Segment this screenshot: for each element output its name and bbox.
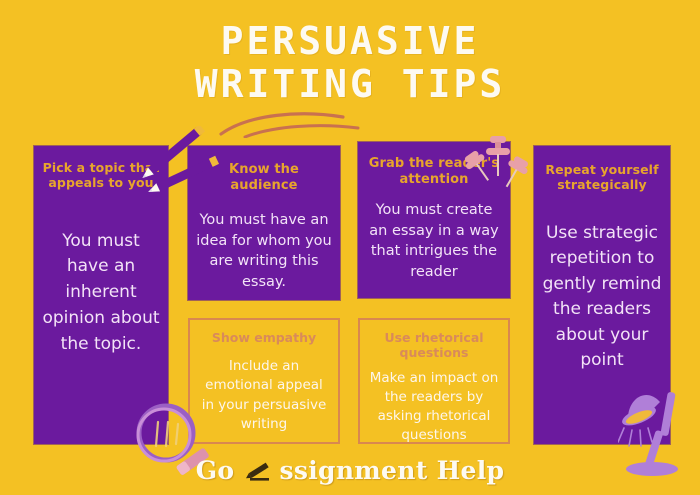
card-heading: Pick a topic that appeals to you bbox=[42, 160, 160, 191]
infographic-poster: PERSUASIVE WRITING TIPS Pick a topic tha… bbox=[0, 0, 700, 495]
card-heading: Know the audience bbox=[196, 162, 332, 194]
card-heading: Repeat yourself strategically bbox=[542, 162, 662, 193]
logo-text-go: Go bbox=[196, 456, 235, 485]
tip-card-know-the-audience: Know the audience You must have an idea … bbox=[188, 146, 340, 300]
card-body: Use strategic repetition to gently remin… bbox=[542, 221, 662, 374]
tip-card-rhetorical-questions: Use rhetorical questions Make an impact … bbox=[358, 318, 510, 444]
logo-text-assignment-help: ssignment Help bbox=[280, 456, 505, 485]
card-body: You must have an idea for whom you are w… bbox=[196, 210, 332, 294]
card-body: You must have an inherent opinion about … bbox=[42, 229, 160, 358]
tip-card-show-empathy: Show empathy Include an emotional appeal… bbox=[188, 318, 340, 444]
tip-card-grab-attention: Grab the reader's attention You must cre… bbox=[358, 142, 510, 298]
card-body: Include an emotional appeal in your pers… bbox=[198, 357, 330, 434]
card-heading: Show empathy bbox=[198, 330, 330, 345]
card-heading: Use rhetorical questions bbox=[368, 330, 500, 361]
brand-logo[interactable]: Go ssignment Help bbox=[0, 456, 700, 485]
title-line-2: WRITING TIPS bbox=[0, 65, 700, 104]
pencil-icon bbox=[244, 459, 272, 483]
tip-card-pick-a-topic: Pick a topic that appeals to you You mus… bbox=[34, 146, 168, 444]
card-heading: Grab the reader's attention bbox=[366, 156, 502, 188]
card-body: You must create an essay in a way that i… bbox=[366, 200, 502, 284]
poster-title: PERSUASIVE WRITING TIPS bbox=[0, 22, 700, 104]
title-swoosh bbox=[215, 104, 365, 138]
title-line-1: PERSUASIVE bbox=[0, 22, 700, 61]
tip-card-repeat-yourself: Repeat yourself strategically Use strate… bbox=[534, 146, 670, 444]
card-body: Make an impact on the readers by asking … bbox=[368, 369, 500, 446]
